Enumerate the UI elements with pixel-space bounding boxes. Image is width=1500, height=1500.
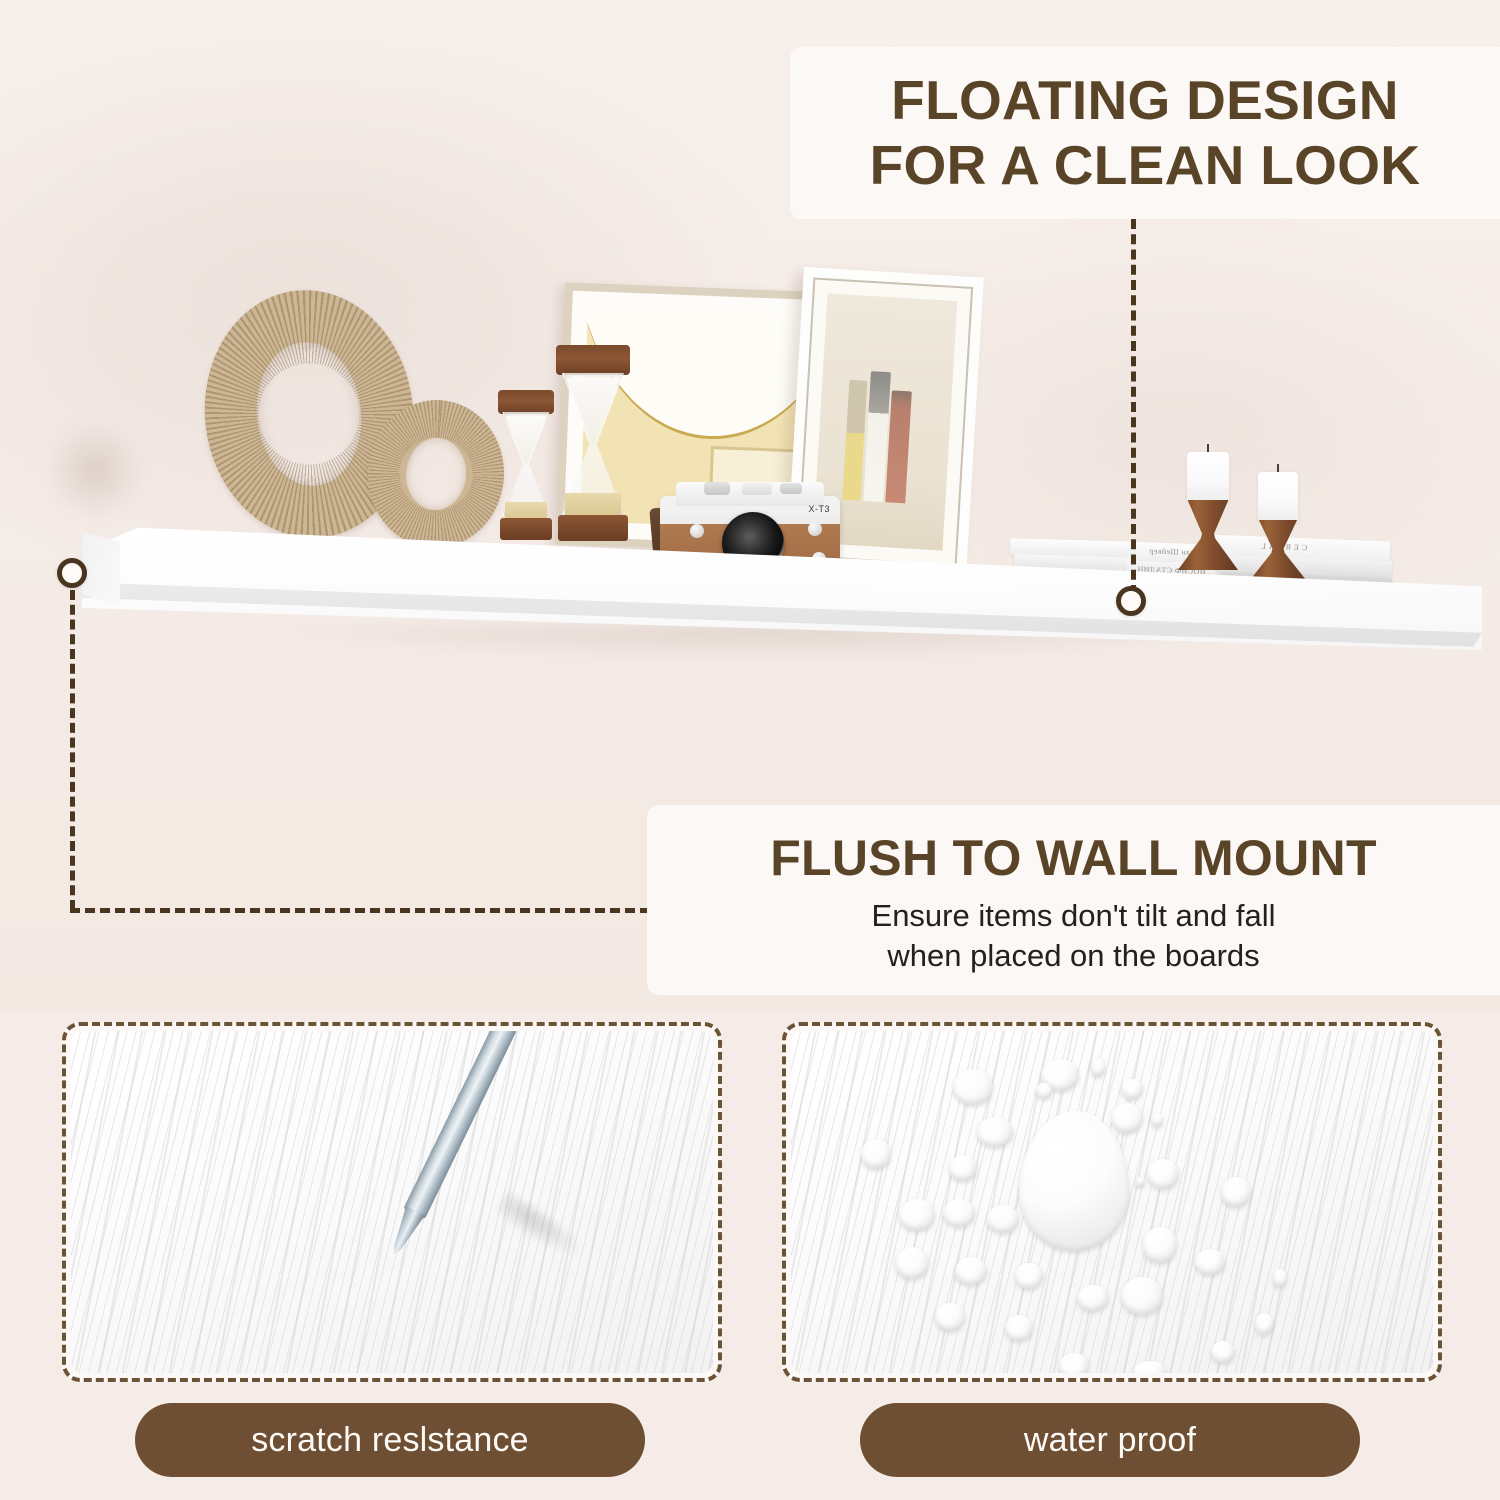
water-droplet	[1135, 1177, 1145, 1187]
water-droplet	[1195, 1249, 1225, 1275]
infographic-canvas: X-T3 Уран Шейкер ИОСИФ СТАЛИН CEREAL Ste…	[0, 0, 1500, 1500]
camera-dial	[780, 483, 802, 494]
callout-dot-shelf-top	[1116, 586, 1146, 616]
callout-line-vertical	[70, 590, 75, 910]
water-droplet	[1005, 1315, 1033, 1341]
water-droplet	[1121, 1277, 1163, 1315]
water-droplet	[861, 1139, 891, 1169]
headline-line-1: FLOATING DESIGN	[891, 68, 1399, 133]
shelf-left-end	[82, 532, 120, 652]
callout-line-floating-design	[1131, 219, 1136, 595]
water-droplet	[1059, 1353, 1089, 1373]
feature-image-scratch	[71, 1031, 713, 1373]
water-droplet	[955, 1257, 987, 1285]
water-droplet	[1221, 1177, 1251, 1207]
water-droplet	[1077, 1285, 1109, 1311]
water-droplet	[899, 1199, 935, 1231]
water-droplet	[1121, 1079, 1143, 1099]
hourglass-cap	[498, 390, 554, 414]
callout-dot-shelf-left	[57, 558, 87, 588]
subtitle-line-1: Ensure items don't tilt and fall	[872, 896, 1276, 935]
camera-viewfinder	[742, 483, 772, 495]
water-droplet	[943, 1199, 975, 1227]
water-droplet	[949, 1155, 977, 1181]
water-droplet	[1111, 1103, 1143, 1133]
water-droplet	[1211, 1341, 1235, 1363]
water-droplet	[977, 1117, 1013, 1147]
callout-line-horizontal	[70, 908, 650, 913]
water-droplet	[1273, 1269, 1287, 1287]
water-droplet	[1015, 1263, 1043, 1289]
feature-label-waterproof: water proof	[860, 1403, 1360, 1477]
water-droplet	[1036, 1083, 1052, 1099]
water-droplet	[895, 1247, 929, 1279]
water-droplet	[935, 1303, 965, 1331]
feature-label-scratch-resistance: scratch reslstance	[135, 1403, 645, 1477]
candle-wax	[1187, 452, 1229, 502]
water-droplet	[953, 1069, 993, 1105]
hourglass-sand-top	[566, 378, 619, 444]
hourglass-sand-top	[506, 416, 546, 464]
bottle-terracotta	[885, 390, 911, 503]
water-droplet	[1147, 1159, 1179, 1189]
water-droplet	[1143, 1227, 1177, 1263]
headline-flush-mount: FLUSH TO WALL MOUNT	[770, 831, 1377, 886]
hourglass-cap	[556, 345, 630, 375]
feature-panel-scratch-resistance	[62, 1022, 722, 1382]
water-droplet	[1091, 1057, 1105, 1077]
subtitle-line-2: when placed on the boards	[887, 936, 1259, 975]
feature-panel-waterproof	[782, 1022, 1442, 1382]
water-droplet	[987, 1205, 1019, 1233]
headline-card-flush-mount: FLUSH TO WALL MOUNT Ensure items don't t…	[647, 805, 1500, 995]
headline-card-floating-design: FLOATING DESIGN FOR A CLEAN LOOK	[790, 47, 1500, 219]
camera-dial	[704, 482, 730, 495]
headline-line-2: FOR A CLEAN LOOK	[870, 133, 1421, 198]
feature-image-waterproof	[791, 1031, 1433, 1373]
water-droplet	[1255, 1313, 1273, 1335]
floating-shelf	[60, 500, 1480, 730]
water-droplet	[1151, 1113, 1163, 1127]
